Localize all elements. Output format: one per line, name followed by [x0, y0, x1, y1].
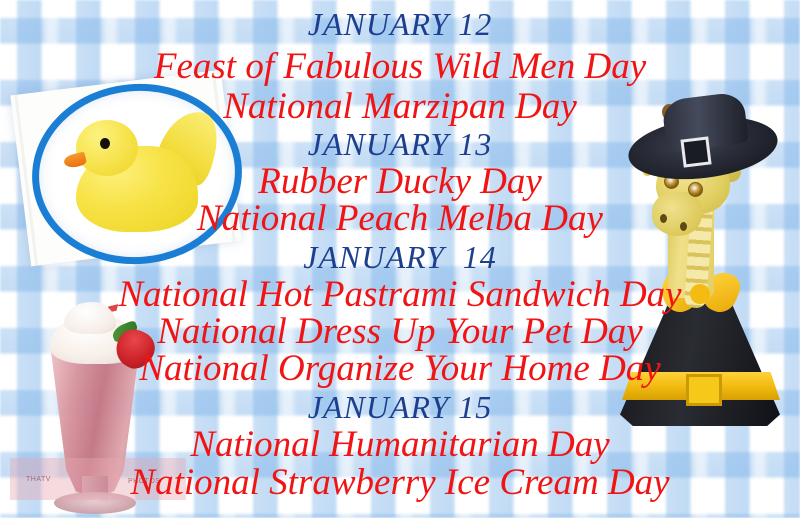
holiday-name-hol-pastrami: National Hot Pastrami Sandwich Day — [0, 276, 800, 313]
date-heading-date-jan-14: JANUARY 14 — [0, 241, 800, 273]
holiday-name-hol-melba: National Peach Melba Day — [0, 200, 800, 237]
holiday-name-hol-organize: National Organize Your Home Day — [0, 350, 800, 387]
date-heading-date-jan-13: JANUARY 13 — [0, 128, 800, 160]
holiday-name-hol-dress-pet: National Dress Up Your Pet Day — [0, 313, 800, 350]
date-heading-date-jan-15: JANUARY 15 — [0, 391, 800, 423]
holiday-name-hol-wild-men: Feast of Fabulous Wild Men Day — [0, 48, 800, 85]
january-holidays-poster: THATV PHOTOS JANUARY 12Feast of Fabulous… — [0, 0, 800, 518]
date-heading-date-jan-12: JANUARY 12 — [0, 8, 800, 40]
holiday-name-hol-humanit: National Humanitarian Day — [0, 426, 800, 463]
holiday-name-hol-strawberry: National Strawberry Ice Cream Day — [0, 464, 800, 501]
holiday-name-hol-marzipan: National Marzipan Day — [0, 88, 800, 125]
holiday-name-hol-ducky: Rubber Ducky Day — [0, 163, 800, 200]
